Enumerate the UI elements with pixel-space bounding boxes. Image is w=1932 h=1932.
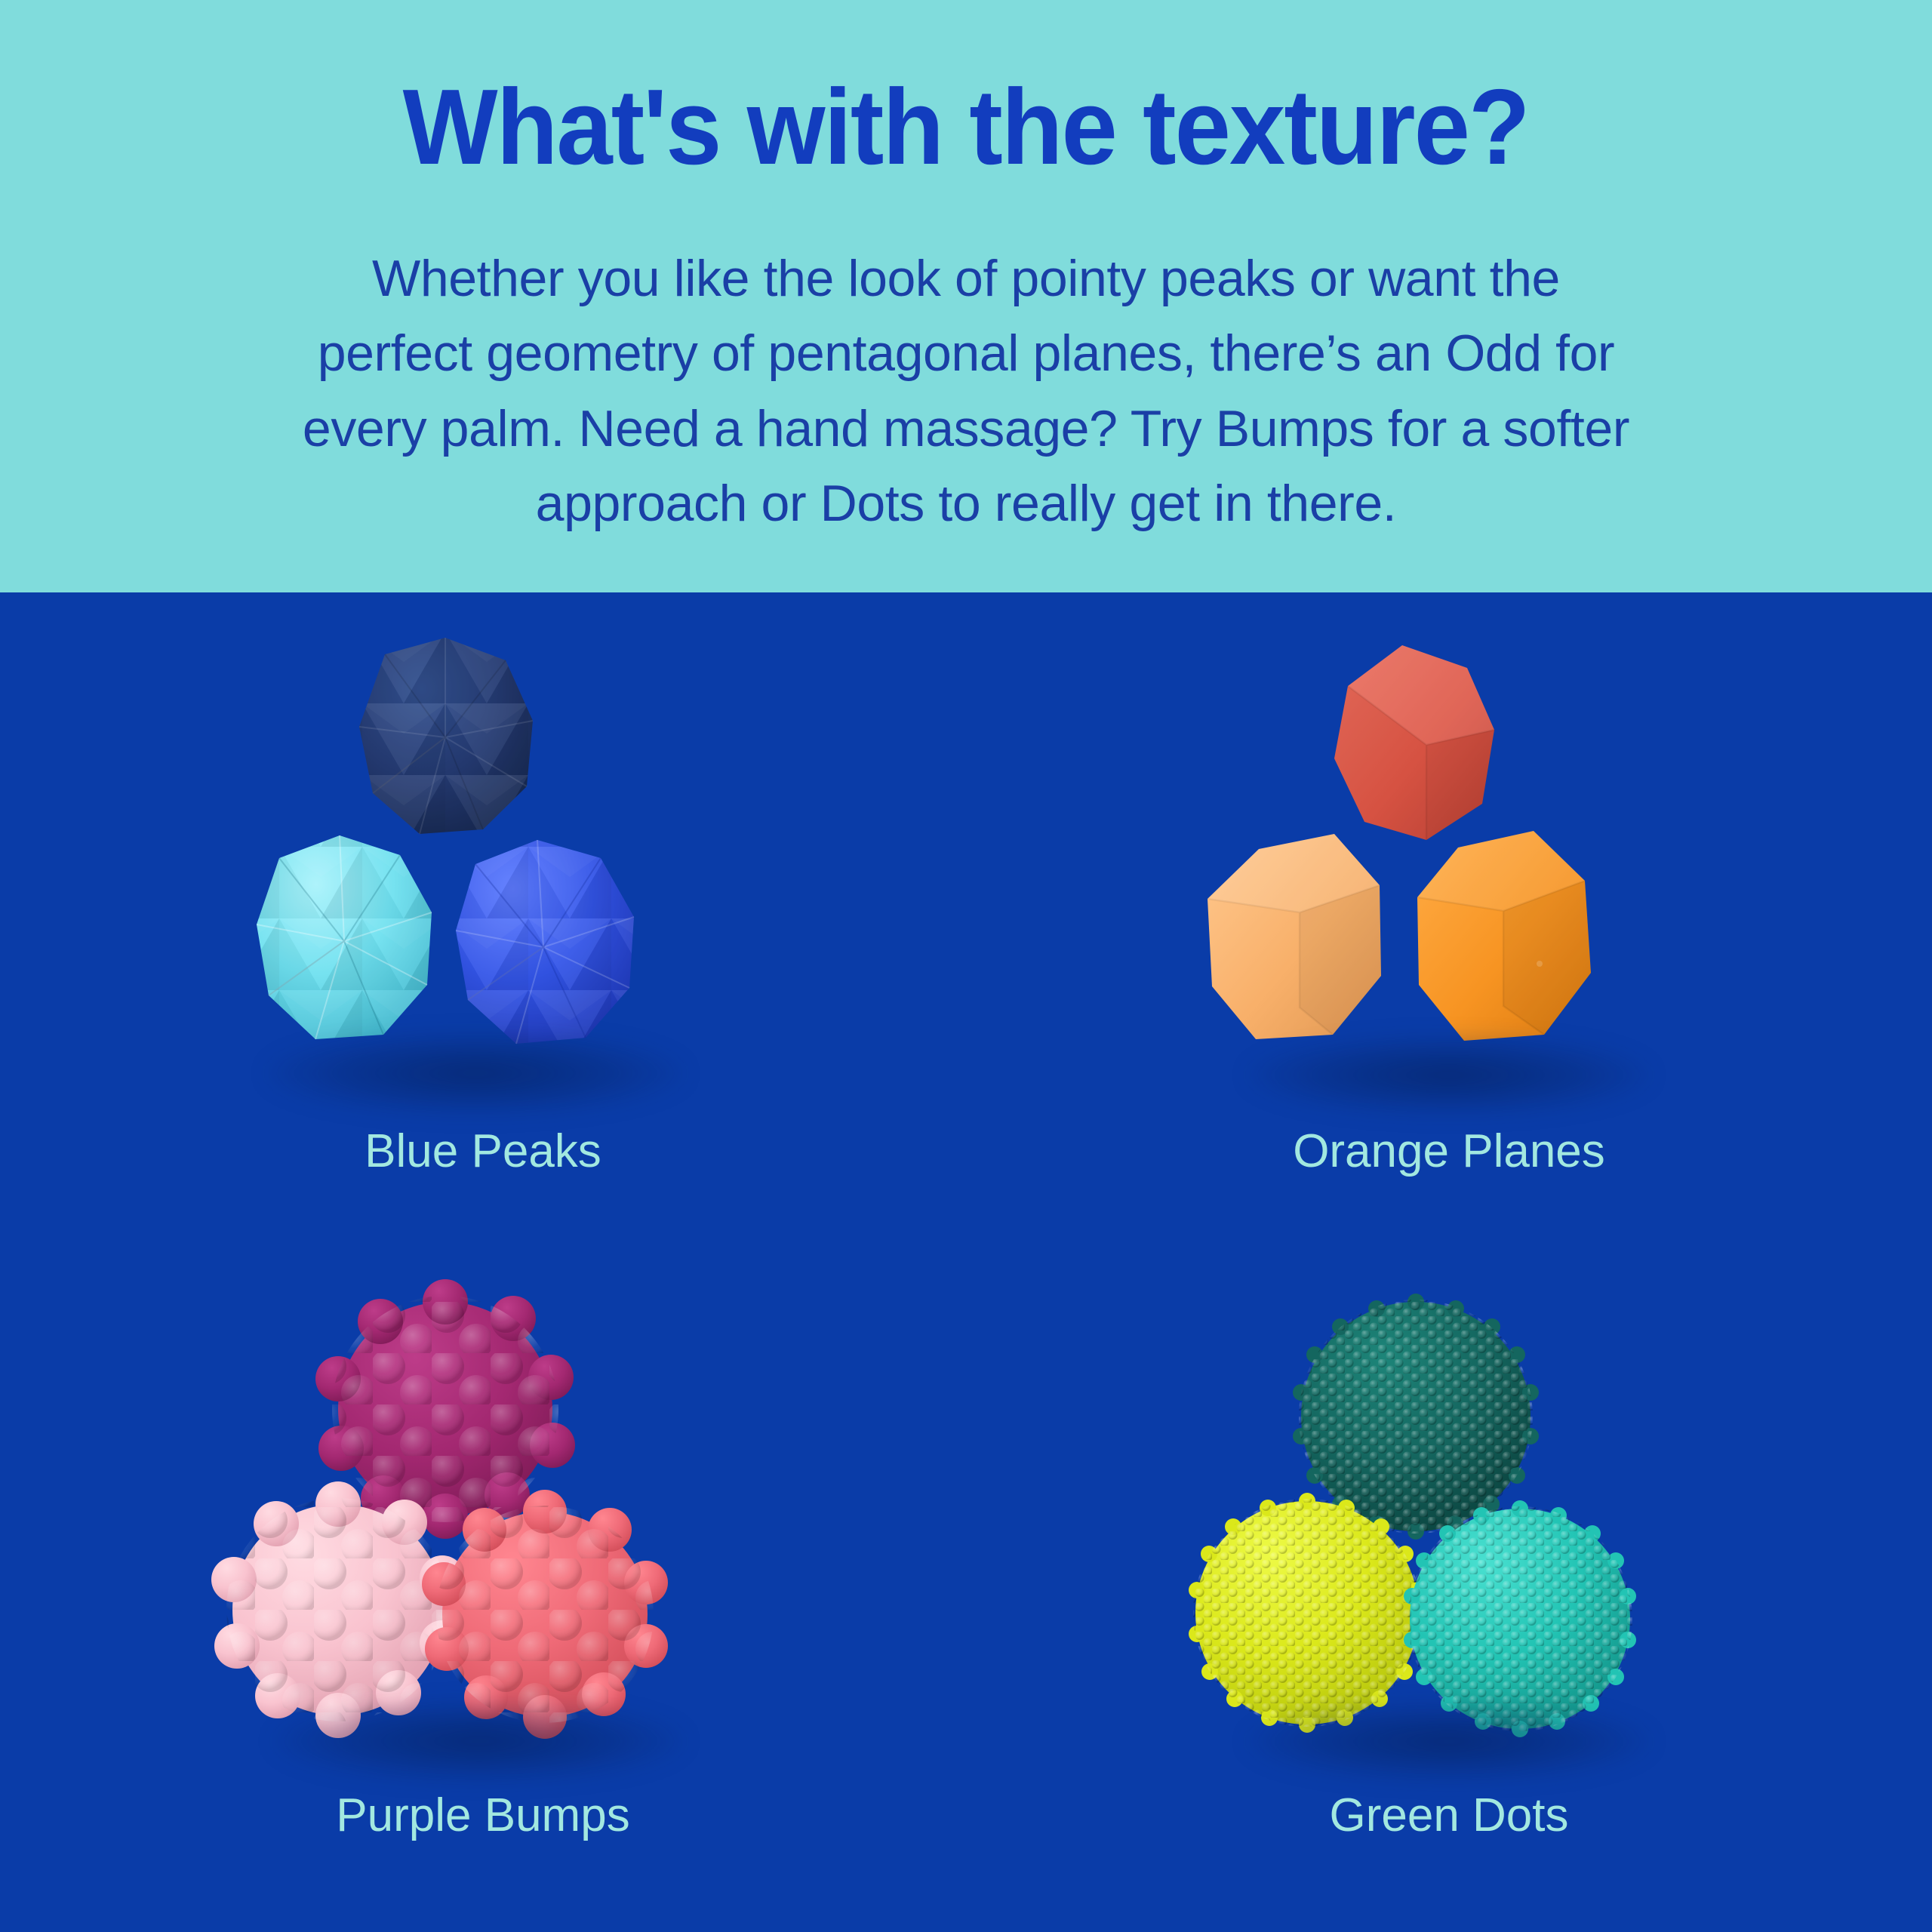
header-band: What's with the texture? Whether you lik… <box>0 0 1932 592</box>
peaks-balls-illustration <box>196 632 770 1115</box>
product-card-green-dots[interactable]: Green Dots <box>966 1263 1932 1932</box>
product-photo-orange-planes <box>1162 632 1736 1115</box>
dots-balls-illustration <box>1162 1302 1736 1785</box>
page-title: What's with the texture? <box>403 74 1529 181</box>
header-description: Whether you like the look of pointy peak… <box>291 241 1641 541</box>
product-photo-purple-bumps <box>196 1302 770 1785</box>
product-caption: Purple Bumps <box>336 1792 629 1839</box>
ball-right <box>1404 1500 1636 1737</box>
product-photo-green-dots <box>1162 1302 1736 1785</box>
product-card-blue-peaks[interactable]: Blue Peaks <box>0 592 966 1263</box>
ball-top <box>359 638 533 834</box>
ball-left <box>257 835 432 1039</box>
ball-left <box>211 1481 465 1738</box>
ball-top <box>1334 645 1494 840</box>
product-card-orange-planes[interactable]: Orange Planes <box>966 592 1932 1263</box>
ball-right <box>1417 831 1591 1041</box>
product-photo-blue-peaks <box>196 632 770 1115</box>
product-caption: Green Dots <box>1329 1792 1568 1839</box>
ball-left <box>1207 834 1381 1039</box>
product-caption: Orange Planes <box>1293 1128 1605 1175</box>
bumps-balls-illustration <box>196 1302 770 1785</box>
product-panel: Blue Peaks <box>0 592 1932 1932</box>
product-card-purple-bumps[interactable]: Purple Bumps <box>0 1263 966 1932</box>
product-caption: Blue Peaks <box>365 1128 601 1175</box>
ball-right <box>456 840 634 1044</box>
infographic-page: What's with the texture? Whether you lik… <box>0 0 1932 1932</box>
planes-balls-illustration <box>1162 632 1736 1115</box>
product-grid: Blue Peaks <box>0 592 1932 1932</box>
